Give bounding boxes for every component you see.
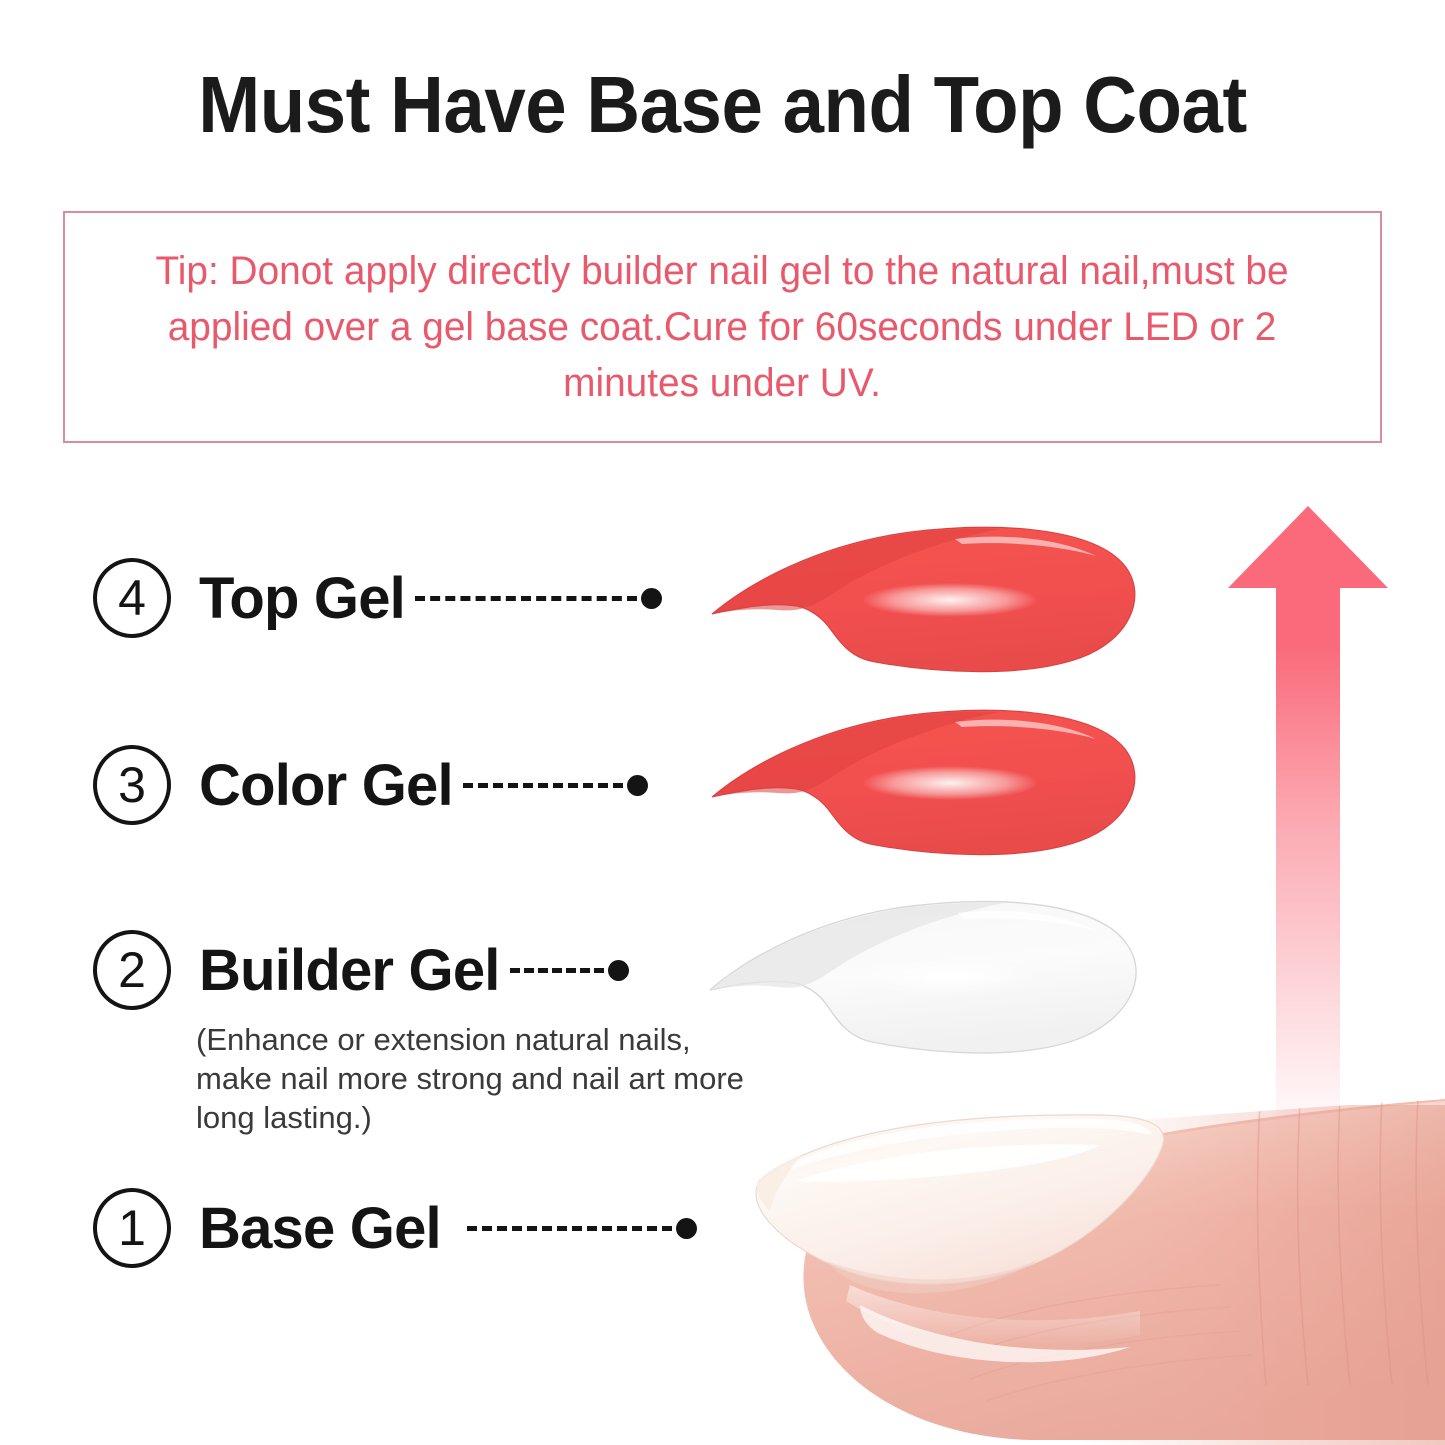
- leader-dot: [608, 960, 629, 981]
- step-label-top-gel: Top Gel: [199, 565, 405, 632]
- infographic-page: Must Have Base and Top Coat Tip: Donot a…: [0, 0, 1445, 1445]
- step-row-builder-gel: 2 Builder Gel: [93, 930, 629, 1010]
- swatch-color-gel: [700, 705, 1145, 865]
- step-number-4: 4: [93, 558, 171, 638]
- fingertip-photo: [700, 1085, 1445, 1445]
- swatch-top-gel: [700, 522, 1145, 682]
- dashed-line: [510, 968, 604, 973]
- leader-dot: [627, 775, 648, 796]
- upward-arrow-icon: [1222, 500, 1394, 1140]
- tip-callout-box: Tip: Donot apply directly builder nail g…: [63, 211, 1382, 443]
- tip-text: Tip: Donot apply directly builder nail g…: [123, 243, 1322, 411]
- page-title: Must Have Base and Top Coat: [51, 58, 1395, 152]
- leader-line-top-gel: [405, 588, 662, 608]
- step-number-2: 2: [93, 930, 171, 1010]
- step-label-builder-gel: Builder Gel: [199, 937, 500, 1004]
- step-note-builder-gel: (Enhance or extension natural nails, mak…: [196, 1020, 756, 1137]
- step-label-base-gel: Base Gel: [199, 1195, 441, 1262]
- step-number-3: 3: [93, 745, 171, 825]
- step-label-color-gel: Color Gel: [199, 752, 453, 819]
- leader-line-builder-gel: [500, 960, 629, 980]
- step-row-base-gel: 1 Base Gel: [93, 1188, 697, 1268]
- dashed-line: [463, 783, 623, 788]
- dashed-line: [467, 1226, 672, 1231]
- leader-dot: [641, 588, 662, 609]
- leader-line-color-gel: [453, 775, 648, 795]
- swatch-builder-gel: [700, 895, 1145, 1070]
- step-row-top-gel: 4 Top Gel: [93, 558, 662, 638]
- step-row-color-gel: 3 Color Gel: [93, 745, 648, 825]
- leader-dot: [676, 1218, 697, 1239]
- leader-line-base-gel: [441, 1218, 697, 1238]
- dashed-line: [415, 596, 637, 601]
- step-number-1: 1: [93, 1188, 171, 1268]
